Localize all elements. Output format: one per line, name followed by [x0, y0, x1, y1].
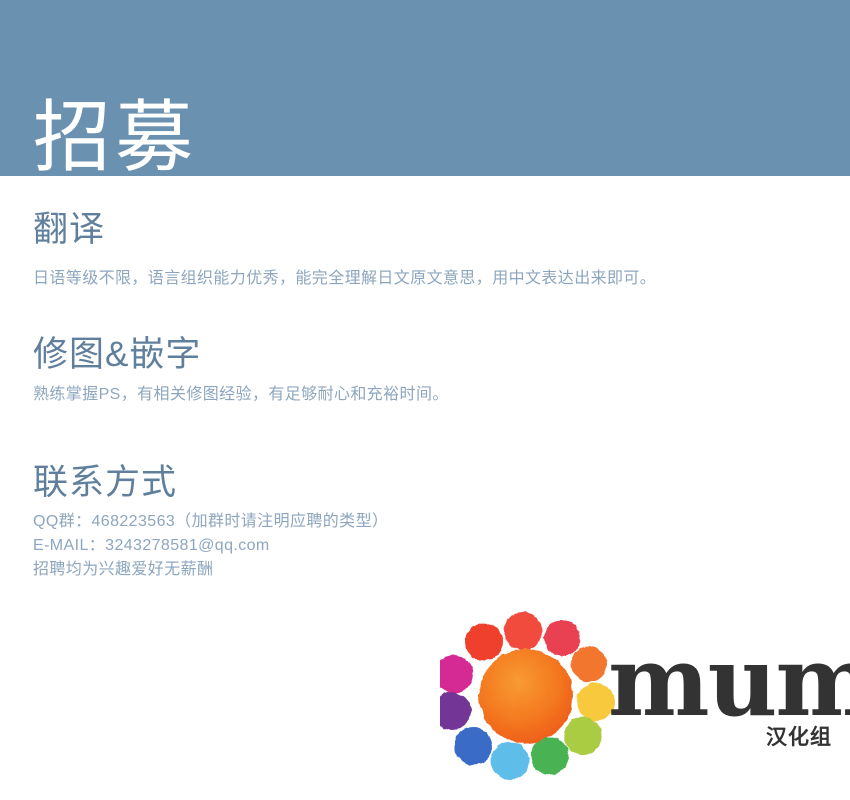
- section-heading-translation: 翻译: [33, 208, 656, 252]
- page-header-banner: 招募: [0, 0, 850, 176]
- center-circle-orange: [479, 649, 573, 743]
- logo-wordmark-text: mum: [608, 634, 850, 730]
- section-retouch-typeset: 修图&嵌字 熟练掌握PS，有相关修图经验，有足够耐心和充裕时间。: [33, 333, 449, 407]
- ring-dot-purple-left: [440, 692, 471, 730]
- section-body-translation: 日语等级不限，语言组织能力优秀，能完全理解日文原文意思，用中文表达出来即可。: [33, 266, 656, 291]
- ring-dot-red-topleft: [465, 623, 503, 661]
- ring-dot-lightblue-bottom: [491, 742, 529, 780]
- section-body-retouch-typeset: 熟练掌握PS，有相关修图经验，有足够耐心和充裕时间。: [33, 382, 449, 407]
- contact-list: QQ群：468223563（加群时请注明应聘的类型） E-MAIL：324327…: [33, 510, 388, 582]
- ring-dot-pinkred-topright: [544, 620, 580, 656]
- section-translation: 翻译 日语等级不限，语言组织能力优秀，能完全理解日文原文意思，用中文表达出来即可…: [33, 208, 656, 291]
- ring-dot-red-top: [504, 612, 542, 650]
- contact-line-qq-group: QQ群：468223563（加群时请注明应聘的类型）: [33, 510, 388, 534]
- ring-dot-magenta-left: [440, 655, 473, 693]
- ring-dot-blue-lowleft: [454, 727, 492, 765]
- page-title: 招募: [33, 89, 197, 185]
- logo-subtitle-text: 汉化组: [766, 726, 832, 750]
- contact-line-unpaid-notice: 招聘均为兴趣爱好无薪酬: [33, 558, 388, 582]
- contact-line-email: E-MAIL：3243278581@qq.com: [33, 534, 388, 558]
- ring-dot-orange-right: [571, 646, 607, 682]
- ring-dot-green-bottom: [531, 737, 569, 775]
- section-heading-retouch-typeset: 修图&嵌字: [33, 333, 449, 377]
- section-contact: 联系方式 QQ群：468223563（加群时请注明应聘的类型） E-MAIL：3…: [33, 461, 388, 582]
- logo-wordmark: mum 汉化组: [608, 634, 836, 774]
- ring-dot-lime-lowright: [564, 717, 602, 755]
- section-heading-contact: 联系方式: [33, 461, 388, 505]
- watercolor-circles-icon: [440, 606, 620, 781]
- group-logo: mum 汉化组: [440, 606, 840, 786]
